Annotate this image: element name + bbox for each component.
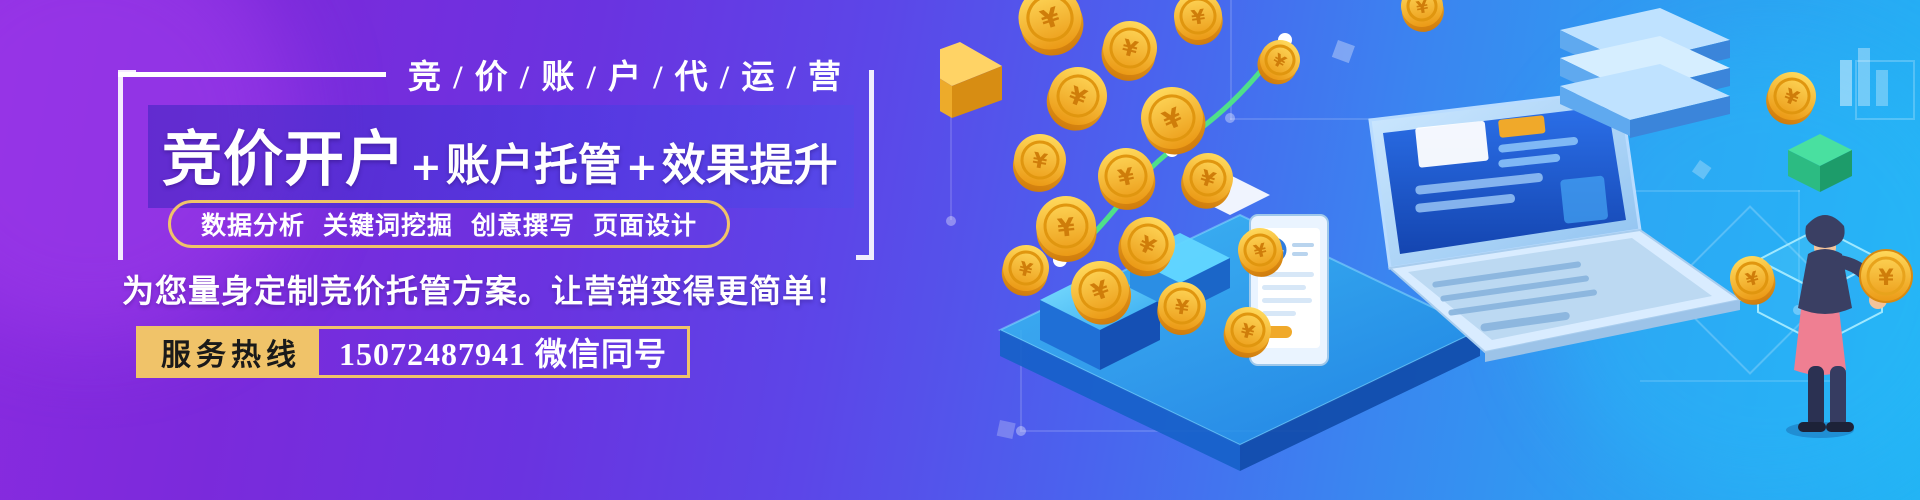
service-item-4: 页面设计 <box>593 206 697 242</box>
decor-bracket-left <box>118 70 136 260</box>
headline: 竞价开户 + 账户托管 + 效果提升 <box>148 105 854 208</box>
hotline-label: 服务热线 <box>139 329 319 375</box>
headline-part-3: 效果提升 <box>662 129 838 193</box>
decor-bracket-right <box>856 70 874 260</box>
headline-main: 竞价开户 <box>162 111 406 198</box>
service-item-1: 数据分析 <box>201 206 305 242</box>
tech-illustration: ¥ ¥ ¥ <box>940 0 1920 500</box>
bars-decor <box>1840 48 1888 106</box>
service-item-3: 创意撰写 <box>471 206 575 242</box>
promo-banner: 竞 / 价 / 账 / 户 / 代 / 运 / 营 竞价开户 + 账户托管 + … <box>0 0 1920 500</box>
headline-plus-1: + <box>406 145 446 189</box>
headline-part-2: 账户托管 <box>446 129 622 193</box>
services-pill: 数据分析 关键词挖掘 创意撰写 页面设计 <box>168 200 730 248</box>
hotline-number[interactable]: 15072487941 微信同号 <box>319 329 687 375</box>
tagline-row: 竞 / 价 / 账 / 户 / 代 / 运 / 营 <box>118 52 878 96</box>
headline-plus-2: + <box>622 145 662 189</box>
tagline-text: 竞 / 价 / 账 / 户 / 代 / 运 / 营 <box>408 50 843 98</box>
banner-content: 竞 / 价 / 账 / 户 / 代 / 运 / 营 竞价开户 + 账户托管 + … <box>0 0 960 500</box>
hotline-box: 服务热线 15072487941 微信同号 <box>136 326 690 378</box>
svg-text:¥: ¥ <box>1878 266 1894 291</box>
tagline-rule <box>118 72 386 77</box>
service-item-2: 关键词挖掘 <box>323 206 453 242</box>
coin-held: ¥ <box>1860 250 1912 302</box>
subtitle-text: 为您量身定制竞价托管方案。让营销变得更简单！ <box>122 266 848 312</box>
gold-box-icon <box>940 42 1002 118</box>
cube-green <box>1788 134 1852 192</box>
